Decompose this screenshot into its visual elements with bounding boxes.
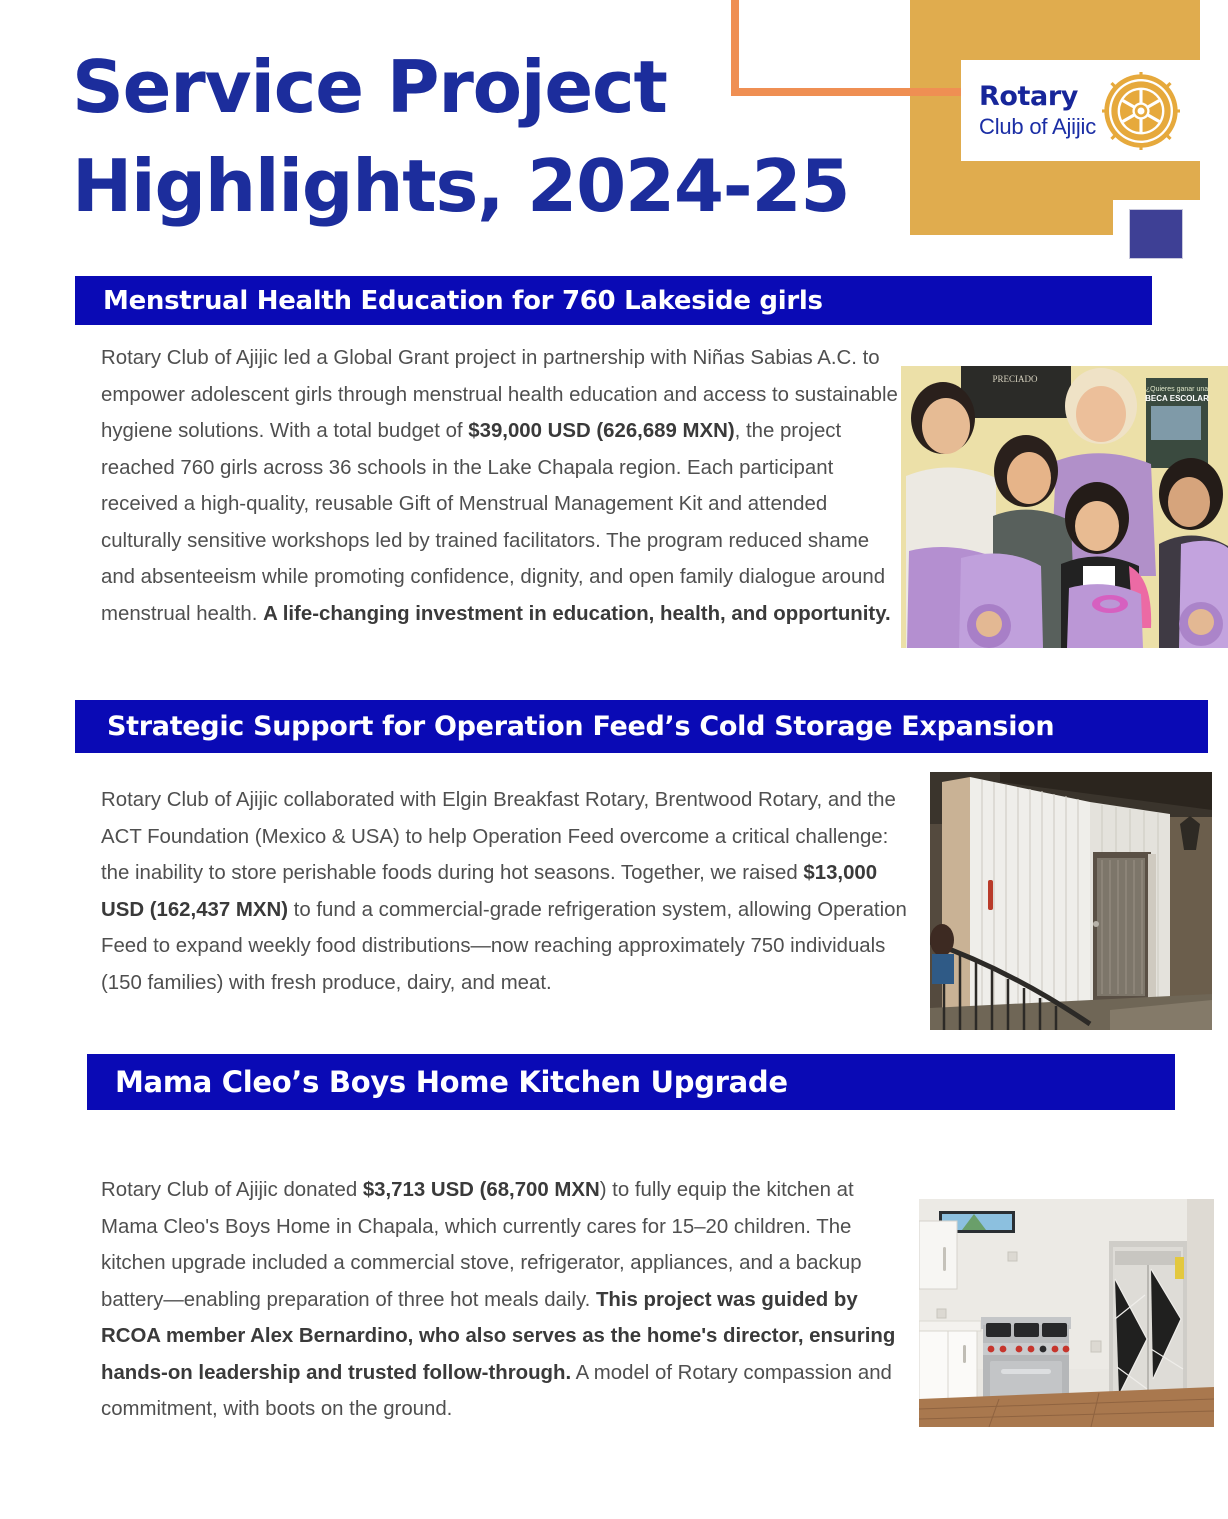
- section-heading-kitchen-upgrade: Mama Cleo’s Boys Home Kitchen Upgrade: [87, 1054, 1175, 1110]
- rotary-wordmark: Rotary: [979, 83, 1096, 111]
- page-title: Service Project Highlights, 2024-25: [72, 38, 902, 237]
- rotary-logo-plate: Rotary Club of Ajijic: [961, 60, 1207, 161]
- club-name: Club of Ajijic: [979, 115, 1096, 138]
- photo-cold-storage-room: [930, 772, 1212, 1030]
- section-body-menstrual-health: Rotary Club of Ajijic led a Global Grant…: [101, 340, 901, 632]
- photo-girls-with-kits: ¿Quieres ganar una BECA ESCOLAR PRECIADO: [901, 366, 1228, 648]
- rotary-wheel-icon: [1102, 72, 1180, 150]
- svg-text:PRECIADO: PRECIADO: [992, 374, 1038, 384]
- section-heading-menstrual-health: Menstrual Health Education for 760 Lakes…: [75, 276, 1152, 325]
- section-body-kitchen-upgrade: Rotary Club of Ajijic donated $3,713 USD…: [101, 1172, 899, 1428]
- rotary-logo-text: Rotary Club of Ajijic: [979, 83, 1096, 137]
- purple-accent-square: [1129, 209, 1183, 259]
- section-body-cold-storage: Rotary Club of Ajijic collaborated with …: [101, 782, 921, 1001]
- photo-kitchen-stove-refrigerator: [919, 1199, 1214, 1427]
- svg-text:BECA ESCOLAR: BECA ESCOLAR: [1145, 394, 1209, 403]
- svg-text:¿Quieres ganar una: ¿Quieres ganar una: [1146, 386, 1208, 393]
- section-heading-cold-storage: Strategic Support for Operation Feed’s C…: [75, 700, 1208, 753]
